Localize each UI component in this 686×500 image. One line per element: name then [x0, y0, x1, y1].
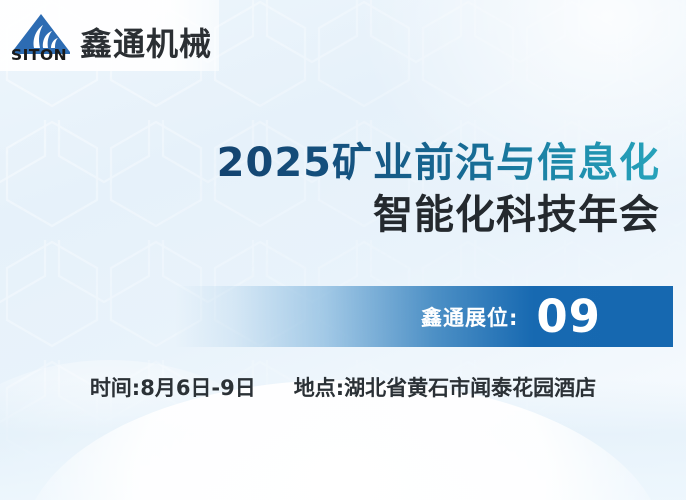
hexagon-pattern-background: [0, 0, 686, 500]
booth-number: 09: [536, 294, 601, 339]
event-date: 时间:8月6日-9日: [90, 372, 256, 402]
headline-line-2: 智能化科技年会: [217, 191, 660, 240]
event-poster: SITON 鑫通机械 2025矿业前沿与信息化 智能化科技年会 鑫通展位: 09…: [0, 0, 686, 500]
booth-label: 鑫通展位:: [421, 302, 518, 332]
logo-chinese-text: 鑫通机械: [80, 28, 212, 60]
siton-mountain-logo-icon: SITON: [10, 12, 72, 62]
event-venue: 地点:湖北省黄石市闻泰花园酒店: [294, 372, 596, 402]
event-info-row: 时间:8月6日-9日 地点:湖北省黄石市闻泰花园酒店: [0, 372, 686, 402]
booth-banner: 鑫通展位: 09: [175, 286, 673, 347]
logo-latin-text: SITON: [11, 48, 67, 64]
company-logo: SITON 鑫通机械: [10, 12, 212, 62]
headline-line-1: 2025矿业前沿与信息化: [217, 140, 660, 187]
headline-block: 2025矿业前沿与信息化 智能化科技年会: [217, 140, 660, 240]
